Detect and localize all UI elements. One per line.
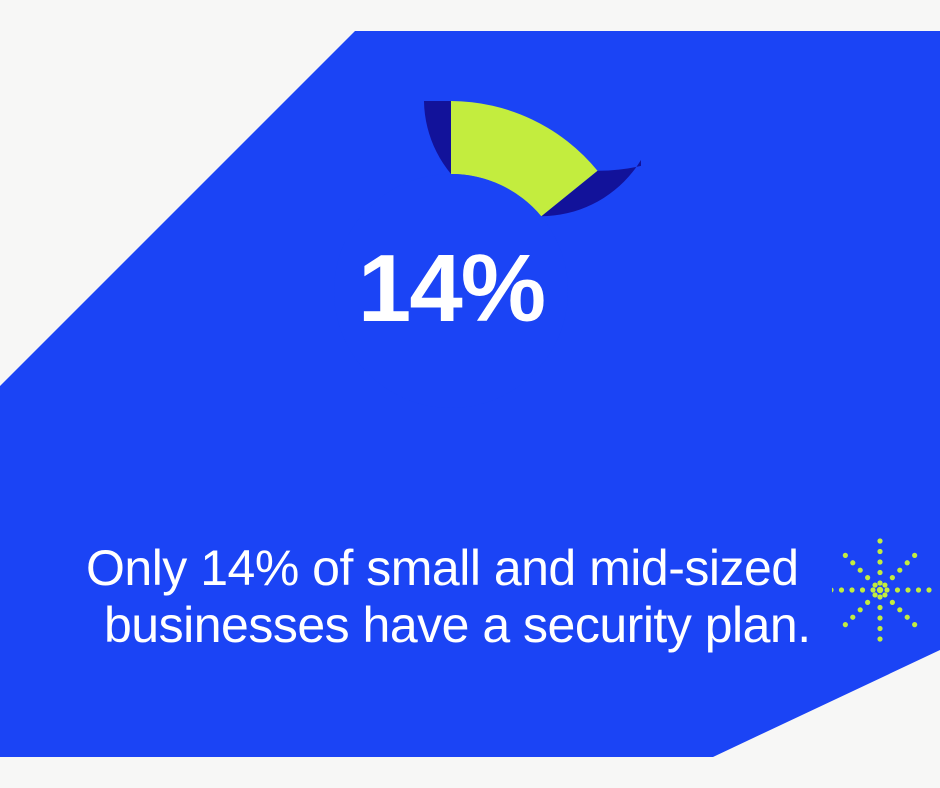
donut-chart: 14% [261,101,641,481]
infographic-canvas: 14% Only 14% of small and mid-sized busi… [0,0,940,788]
donut-hole [334,174,568,408]
caption-line-1: Only 14% of small and mid-sized [86,540,886,597]
caption-block: Only 14% of small and mid-sized business… [86,540,886,654]
caption-line-2: businesses have a security plan. [86,597,886,654]
donut-chart-svg [261,101,641,481]
